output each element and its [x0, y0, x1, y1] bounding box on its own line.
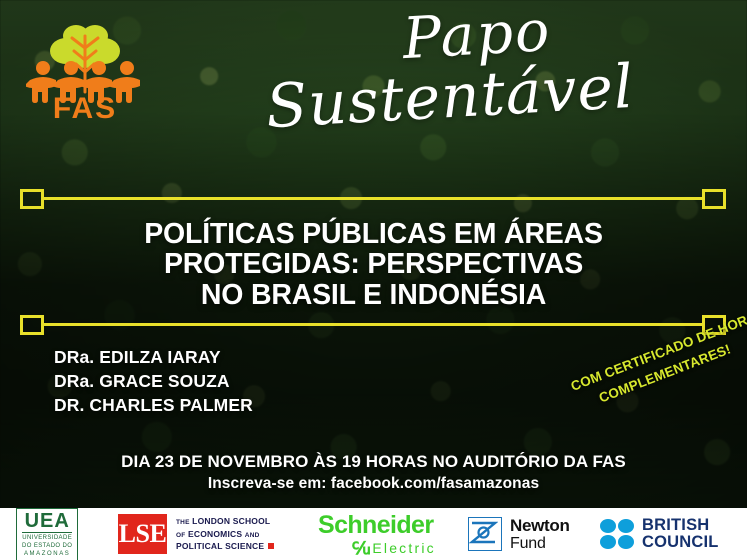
lse-line2-tiny2: AND	[245, 532, 260, 539]
fas-logo-text: FAS	[53, 92, 117, 122]
speaker-item: DRa. EDILZA IARAY	[54, 345, 253, 369]
headline-line3: NO BRASIL E INDONÉSIA	[0, 280, 747, 310]
lse-line3: POLITICAL SCIENCE	[176, 540, 274, 552]
newton-swirl-icon	[468, 517, 502, 551]
event-signup-line[interactable]: Inscreva-se em: facebook.com/fasamazonas	[0, 475, 747, 493]
newton-line1: Newton	[510, 517, 570, 534]
sponsor-logo-newton-fund: Newton Fund	[468, 517, 570, 552]
lse-line1: THE LONDON SCHOOL	[176, 515, 274, 527]
speaker-item: DRa. GRACE SOUZA	[54, 369, 253, 393]
newton-line2: Fund	[510, 536, 570, 552]
sponsor-bar: UEA UNIVERSIDADE DO ESTADO DO AMAZONAS L…	[0, 508, 747, 560]
lse-line1-tiny: THE	[176, 519, 190, 526]
lse-red-square-icon	[268, 543, 274, 549]
schneider-sub-row: ℆Electric	[352, 539, 436, 556]
event-poster: FAS Papo Sustentável POLÍTICAS PÚBLICAS …	[0, 0, 747, 560]
decorative-rule-bottom	[20, 310, 726, 338]
rule-bar	[44, 197, 704, 200]
rule-square-left	[20, 189, 44, 209]
event-date-line: DIA 23 DE NOVEMBRO ÀS 19 HORAS NO AUDITÓ…	[0, 452, 747, 472]
speaker-list: DRa. EDILZA IARAY DRa. GRACE SOUZA DR. C…	[54, 345, 253, 417]
lse-line3-main: POLITICAL SCIENCE	[176, 541, 264, 551]
tree-with-people-icon: FAS	[26, 14, 144, 122]
rule-square-left	[20, 315, 44, 335]
uea-line1: UNIVERSIDADE	[22, 535, 72, 541]
british-council-line1: BRITISH	[642, 517, 719, 534]
schneider-sub: Electric	[372, 540, 436, 556]
sponsor-logo-schneider: Schneider ℆Electric	[318, 513, 436, 556]
lse-line2-tiny: OF	[176, 532, 185, 539]
uea-logo-box: UEA UNIVERSIDADE DO ESTADO DO AMAZONAS	[16, 508, 78, 560]
uea-line2: DO ESTADO DO	[22, 543, 72, 549]
lse-line1-main: LONDON SCHOOL	[192, 516, 270, 526]
lse-line2-main: ECONOMICS	[188, 529, 242, 539]
uea-line3: AMAZONAS	[22, 551, 72, 557]
sponsor-logo-lse: LSE THE LONDON SCHOOL OF ECONOMICS AND P…	[118, 514, 274, 554]
schneider-wordmark: Schneider ℆Electric	[318, 513, 436, 556]
british-council-line2: COUNCIL	[642, 534, 719, 551]
british-council-wordmark: BRITISH COUNCIL	[642, 517, 719, 551]
schneider-name: Schneider	[318, 513, 436, 538]
speaker-item: DR. CHARLES PALMER	[54, 393, 253, 417]
headline-line2: PROTEGIDAS: PERSPECTIVAS	[0, 249, 747, 279]
rule-square-right	[702, 189, 726, 209]
event-details: DIA 23 DE NOVEMBRO ÀS 19 HORAS NO AUDITÓ…	[0, 452, 747, 493]
british-council-dots-icon	[600, 519, 634, 549]
lse-mark: LSE	[118, 514, 167, 554]
lse-wordmark: THE LONDON SCHOOL OF ECONOMICS AND POLIT…	[176, 515, 274, 552]
uea-abbr: UEA	[22, 511, 72, 533]
decorative-rule-top	[20, 184, 726, 212]
lse-line2: OF ECONOMICS AND	[176, 528, 274, 540]
sponsor-logo-british-council: BRITISH COUNCIL	[600, 517, 719, 551]
sponsor-logo-uea: UEA UNIVERSIDADE DO ESTADO DO AMAZONAS	[16, 508, 78, 560]
headline-line1: POLÍTICAS PÚBLICAS EM ÁREAS	[0, 219, 747, 249]
newton-wordmark: Newton Fund	[510, 517, 570, 552]
schneider-s-icon: ℆	[352, 540, 372, 557]
rule-bar	[44, 323, 704, 326]
page-title: POLÍTICAS PÚBLICAS EM ÁREAS PROTEGIDAS: …	[0, 219, 747, 310]
fas-logo: FAS	[26, 14, 144, 122]
